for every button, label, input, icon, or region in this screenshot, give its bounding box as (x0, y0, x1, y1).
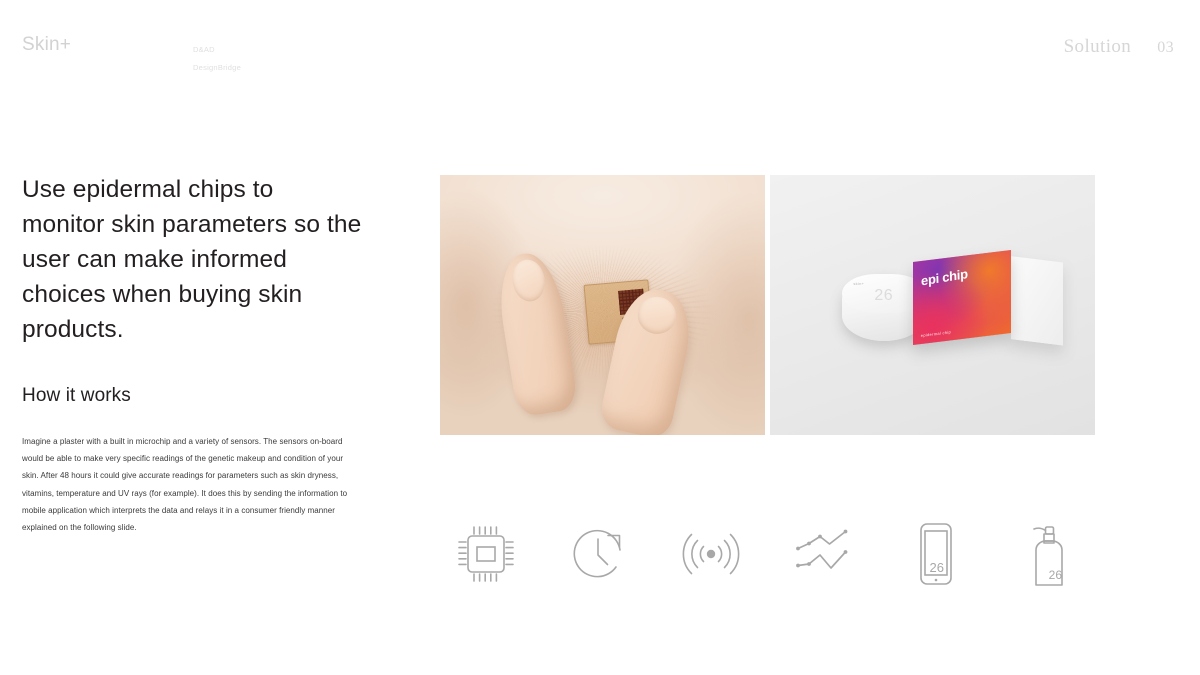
credit-designbridge: DesignBridge (193, 59, 241, 77)
packaging-image: skin+ 26 epi chip epidermal chip (770, 175, 1095, 435)
icon-cell-microchip (440, 508, 532, 600)
body-paragraph: Imagine a plaster with a built in microc… (22, 433, 350, 536)
product-box-side (1011, 256, 1063, 346)
section-name: Solution (1064, 36, 1132, 58)
box-subtitle-label: epidermal chip (921, 328, 951, 337)
page-title: Use epidermal chips to monitor skin para… (22, 172, 362, 347)
credit-dandad: D&AD (193, 41, 241, 59)
product-box-front: epi chip epidermal chip (913, 250, 1011, 345)
icon-cell-smartphone: 26 (890, 508, 982, 600)
icon-cell-chart (778, 508, 870, 600)
icon-cell-wireless (665, 508, 757, 600)
jar-brand-label: skin+ (853, 281, 864, 286)
credits-block: D&AD DesignBridge (193, 41, 241, 77)
feature-icon-row: 26 26 (440, 508, 1095, 600)
slide-header: Skin+ D&AD DesignBridge Solution 03 (0, 0, 1200, 90)
section-number: 03 (1157, 39, 1174, 57)
line-chart-icon (790, 523, 858, 585)
left-column: Use epidermal chips to monitor skin para… (22, 172, 362, 536)
how-it-works-heading: How it works (22, 385, 362, 407)
header-right: Solution 03 (1064, 36, 1174, 58)
smartphone-reading-value: 26 (930, 560, 944, 575)
bottle-reading-value: 26 (1049, 568, 1063, 582)
box-title-label: epi chip (921, 261, 1005, 288)
wireless-signal-icon (680, 523, 742, 585)
smartphone-icon: 26 (914, 521, 958, 587)
microchip-icon (455, 523, 517, 585)
clock-rotate-icon (568, 523, 630, 585)
pump-bottle-icon: 26 (1023, 519, 1075, 589)
skin-chip-image (440, 175, 765, 435)
icon-cell-bottle: 26 (1003, 508, 1095, 600)
icon-cell-clock (553, 508, 645, 600)
brand-title: Skin+ (22, 34, 71, 56)
